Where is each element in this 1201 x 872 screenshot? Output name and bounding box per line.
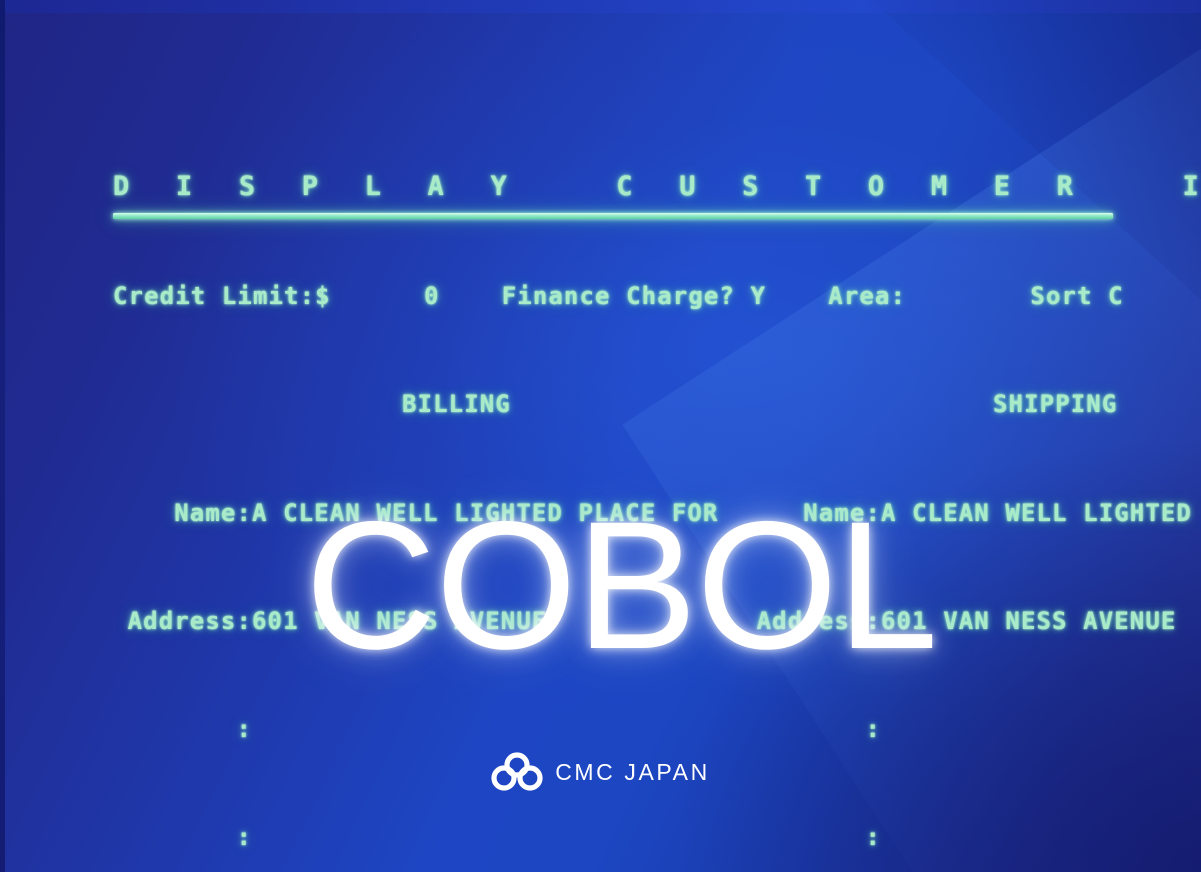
poster-canvas: D I S P L A Y C U S T O M E R I N F O R … (0, 0, 1201, 872)
background-left-strip (0, 0, 5, 872)
brand-name: CMC JAPAN (555, 761, 710, 784)
background-top-band (0, 0, 1201, 13)
cobol-wordmark: COBOL (305, 494, 937, 676)
footer-brand-lockup: CMC JAPAN (0, 752, 1201, 792)
cmc-trefoil-rings-icon (491, 752, 543, 792)
